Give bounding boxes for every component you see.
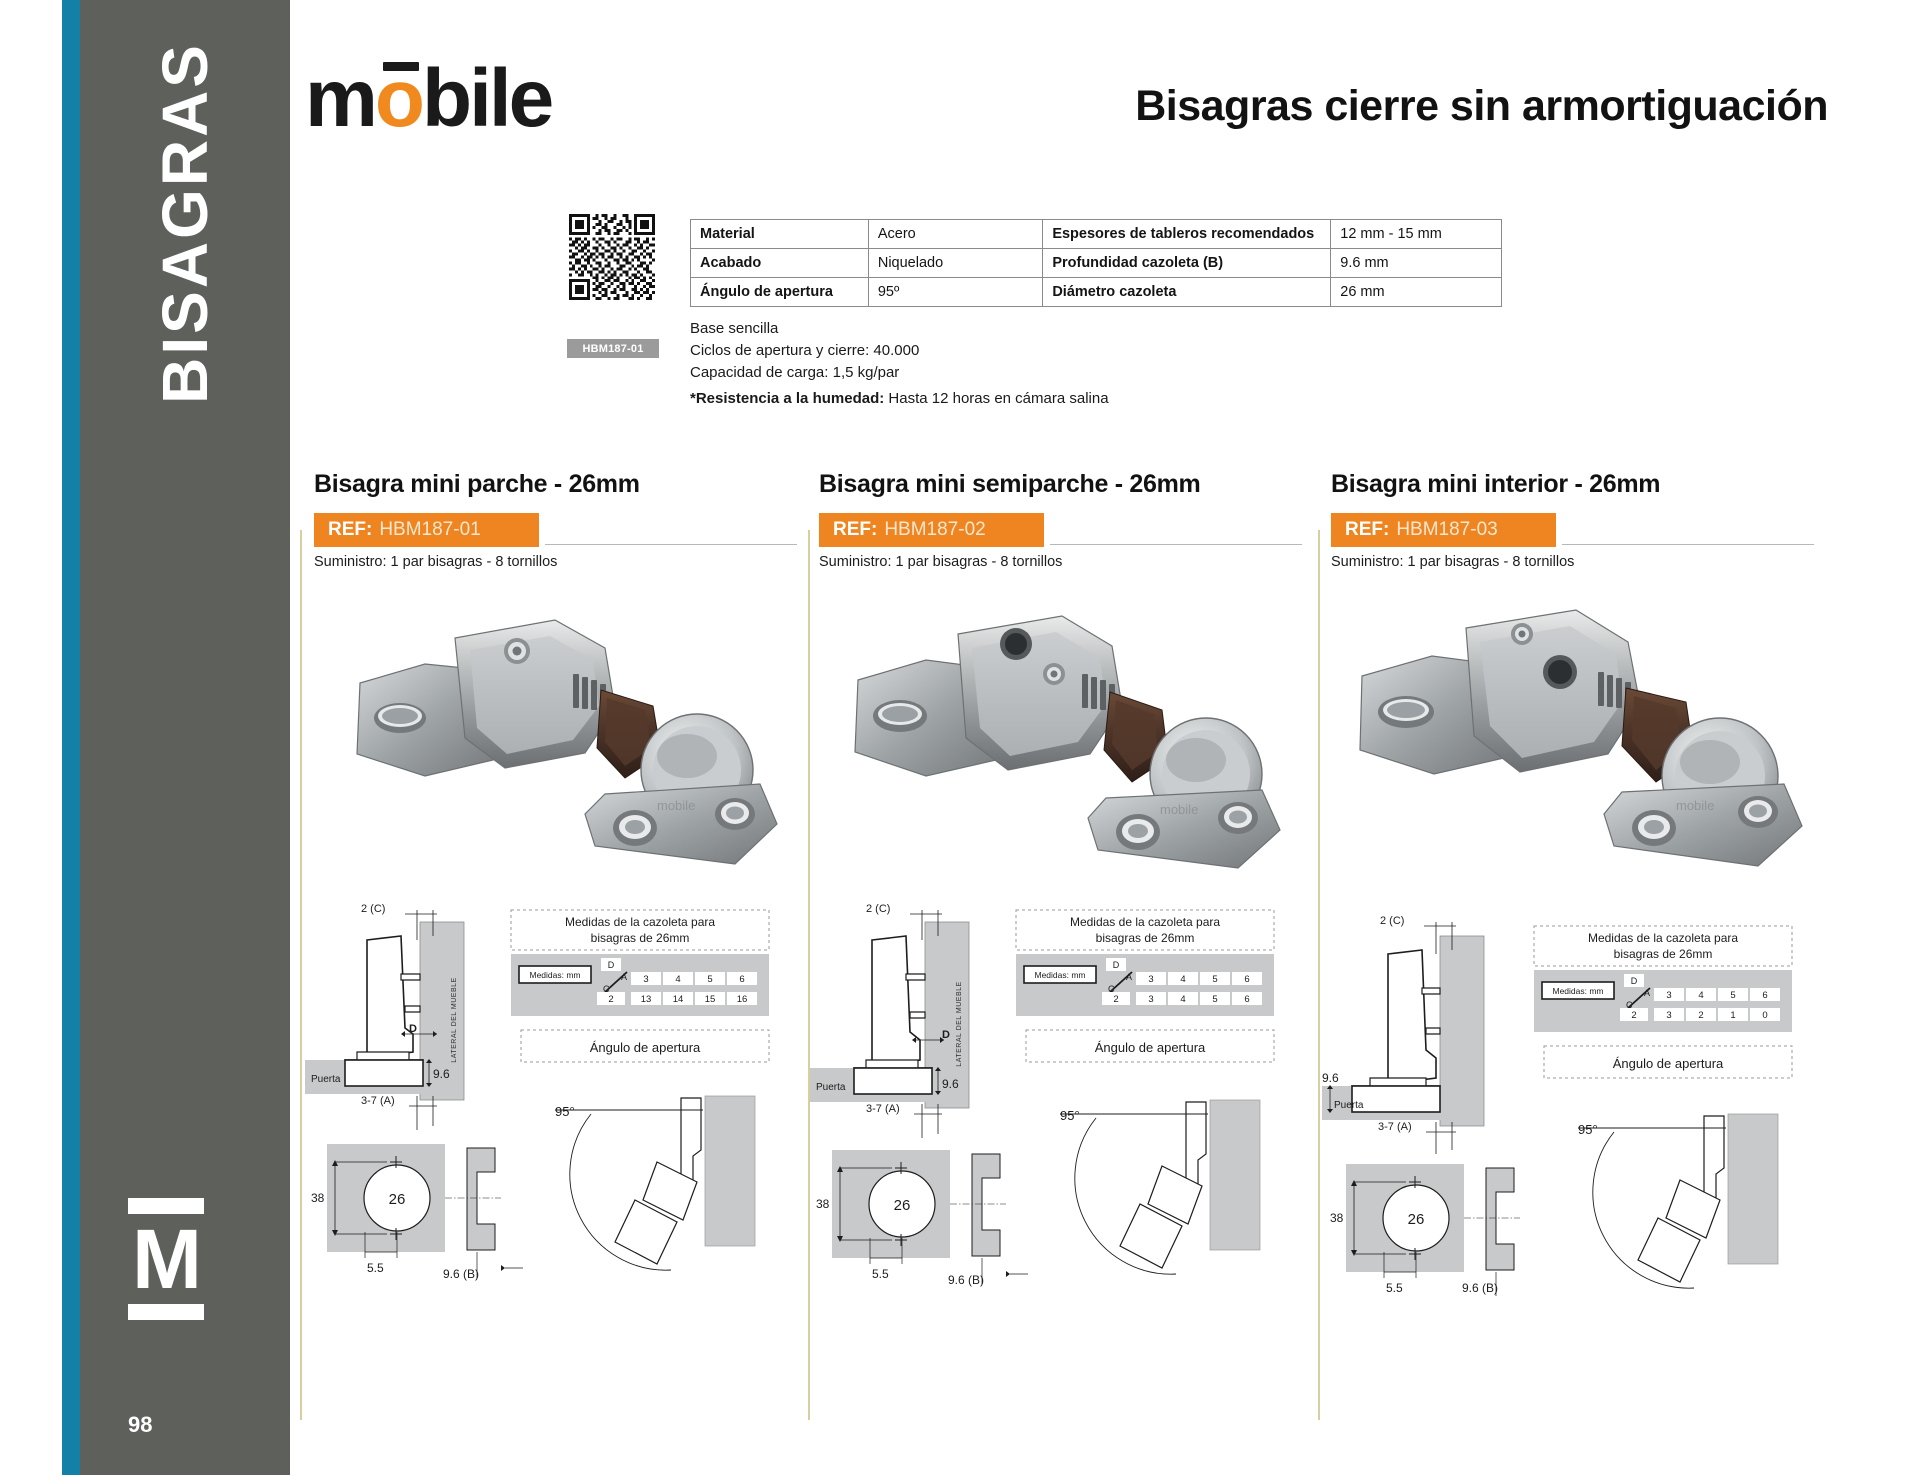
diagram-row-c: 2 [608,994,613,1005]
spec-key-cup-diameter: Diámetro cazoleta [1043,278,1331,307]
svg-text:mobile: mobile [1676,798,1714,813]
diagram-dim-38: 38 [1330,1211,1344,1225]
diagram-axis-d: D [608,960,615,970]
diagram-row-c: 2 [1113,994,1118,1005]
diagram-dim-55: 5.5 [872,1267,889,1281]
product-diagram: Puerta 2 (C) 9.6 3-7 (A) 26 [1322,900,1827,1320]
diagram-cup-note-2: bisagras de 26mm [591,931,690,945]
diagram-units-label: Medidas: mm [1034,970,1085,980]
diagram-label-door: Puerta [311,1074,341,1085]
diagram-dim-38: 38 [311,1191,325,1205]
diagram-row-value-1: 4 [1180,994,1185,1005]
diagram-axis-a: A [1644,988,1650,998]
diagram-dim-26: 26 [389,1191,406,1208]
diagram-row-a-0: 3 [643,974,648,985]
table-row: Ángulo de apertura 95º Diámetro cazoleta… [691,278,1502,307]
technical-drawing-parche-icon: LATERAL DEL MUEBLE Puerta 2 (C) [305,900,810,1320]
spec-note-base: Base sencilla [690,318,919,340]
hinge-photo-interior-icon: mobile [1322,578,1822,893]
brand-logo-part1: m [305,53,375,144]
spec-table: Material Acero Espesores de tableros rec… [690,219,1502,307]
diagram-row-a-1: 4 [675,974,680,985]
page-title: Bisagras cierre sin armortiguación [1135,82,1828,131]
svg-text:mobile: mobile [657,798,695,813]
diagram-row-a-0: 3 [1666,990,1671,1001]
hinge-photo-parche-icon: mobile [305,578,805,893]
diagram-dim-b: 9.6 (B) [948,1273,984,1287]
product-ref-value: HBM187-01 [379,519,480,541]
diagram-row-a-2: 5 [1730,990,1735,1001]
product-ref-value: HBM187-02 [884,519,985,541]
spec-note-cycles: Ciclos de apertura y cierre: 40.000 [690,340,919,362]
product-supply: Suministro: 1 par bisagras - 8 tornillos [1331,554,1822,570]
diagram-angle-value: 95° [1060,1108,1080,1123]
product-ref-row: REF: HBM187-01 [305,513,805,547]
diagram-label-side: LATERAL DEL MUEBLE [956,981,963,1066]
column-divider [1318,530,1320,1420]
spec-notes: Base sencilla Ciclos de apertura y cierr… [690,318,919,384]
column-divider [300,530,302,1420]
product-card-parche: Bisagra mini parche - 26mm REF: HBM187-0… [305,470,805,1425]
page-number: 98 [128,1412,152,1438]
brand-logo: mobile [305,58,551,140]
product-supply: Suministro: 1 par bisagras - 8 tornillos [819,554,1310,570]
humidity-note-value: Hasta 12 horas en cámara salina [888,390,1108,407]
diagram-row-a-3: 6 [1762,990,1767,1001]
diagram-dim-depth: 9.6 [433,1067,450,1081]
diagram-angle-value: 95° [555,1104,575,1119]
svg-text:mobile: mobile [1160,802,1198,817]
diagram-row-value-0: 13 [641,994,652,1005]
diagram-dim-a: 3-7 (A) [866,1103,900,1115]
product-diagram: LATERAL DEL MUEBLE Puerta 2 (C) D [810,900,1315,1320]
diagram-dim-depth: 9.6 [1322,1071,1339,1085]
diagram-row-a-1: 4 [1698,990,1703,1001]
diagram-row-a-3: 6 [739,974,744,985]
spec-note-load: Capacidad de carga: 1,5 kg/par [690,362,919,384]
product-photo: mobile [1322,578,1822,893]
sidebar-category-label: BISAGRAS [148,42,222,404]
diagram-row-a-2: 5 [707,974,712,985]
diagram-angle-value: 95° [1578,1122,1598,1137]
diagram-units-label: Medidas: mm [529,970,580,980]
spec-value-cup-diameter: 26 mm [1331,278,1502,307]
humidity-note-label: *Resistencia a la humedad: [690,390,884,407]
product-supply: Suministro: 1 par bisagras - 8 tornillos [314,554,805,570]
brand-mark-bottom-bar [128,1304,204,1320]
diagram-row-value-2: 15 [705,994,716,1005]
spec-key-material: Material [691,220,869,249]
product-photo: mobile [305,578,805,893]
diagram-label-door: Puerta [816,1082,846,1093]
brand-mark-icon: M [128,1198,204,1320]
spec-key-finish: Acabado [691,249,869,278]
diagram-dim-top: 2 (C) [1380,915,1404,927]
brand-logo-macron-icon [383,62,419,71]
diagram-row-value-3: 0 [1762,1010,1767,1021]
diagram-row-value-2: 1 [1730,1010,1735,1021]
spec-value-finish: Niquelado [868,249,1042,278]
brand-logo-o: o [375,58,422,140]
diagram-row-value-0: 3 [1148,994,1153,1005]
spec-key-thickness: Espesores de tableros recomendados [1043,220,1331,249]
technical-drawing-interior-icon: Puerta 2 (C) 9.6 3-7 (A) 26 [1322,900,1827,1320]
diagram-dim-depth: 9.6 [942,1077,959,1091]
spec-key-cup-depth: Profundidad cazoleta (B) [1043,249,1331,278]
diagram-dim-26: 26 [1408,1211,1425,1228]
product-title: Bisagra mini interior - 26mm [1331,470,1822,499]
diagram-units-label: Medidas: mm [1552,986,1603,996]
diagram-row-value-2: 5 [1212,994,1217,1005]
product-ref-label: REF: [833,519,877,541]
sidebar: BISAGRAS M 98 [0,0,290,1475]
diagram-dim-a: 3-7 (A) [1378,1121,1412,1133]
diagram-dim-b: 9.6 (B) [443,1267,479,1281]
humidity-note: *Resistencia a la humedad: Hasta 12 hora… [690,390,1109,407]
spec-value-thickness: 12 mm - 15 mm [1331,220,1502,249]
diagram-cup-note-1: Medidas de la cazoleta para [565,915,715,929]
product-ref-label: REF: [1345,519,1389,541]
diagram-label-door: Puerta [1334,1100,1364,1111]
product-ref-rule [1050,544,1302,545]
table-row: Acabado Niquelado Profundidad cazoleta (… [691,249,1502,278]
diagram-label-side: LATERAL DEL MUEBLE [451,977,458,1062]
product-ref-badge[interactable]: REF: HBM187-01 [314,513,539,547]
sidebar-accent-stripe [62,0,80,1475]
diagram-dim-26: 26 [894,1197,911,1214]
spec-value-material: Acero [868,220,1042,249]
diagram-row-a-0: 3 [1148,974,1153,985]
brand-mark-letter: M [128,1220,204,1298]
product-card-interior: Bisagra mini interior - 26mm REF: HBM187… [1322,470,1822,1425]
diagram-axis-a: A [621,972,627,982]
diagram-cup-note-1: Medidas de la cazoleta para [1070,915,1220,929]
diagram-row-a-3: 6 [1244,974,1249,985]
diagram-cup-note-1: Medidas de la cazoleta para [1588,931,1738,945]
diagram-dim-b: 9.6 (B) [1462,1281,1498,1295]
diagram-row-a-2: 5 [1212,974,1217,985]
product-ref-rule [545,544,797,545]
product-ref-badge[interactable]: REF: HBM187-03 [1331,513,1556,547]
qr-code-icon [569,214,655,300]
product-title: Bisagra mini parche - 26mm [314,470,805,499]
diagram-axis-d: D [1631,976,1638,986]
product-ref-badge[interactable]: REF: HBM187-02 [819,513,1044,547]
hinge-photo-semiparche-icon: mobile [810,578,1310,893]
product-title: Bisagra mini semiparche - 26mm [819,470,1310,499]
product-ref-row: REF: HBM187-02 [810,513,1310,547]
diagram-dim-top: 2 (C) [361,903,385,915]
spec-value-angle: 95º [868,278,1042,307]
diagram-angle-note: Ángulo de apertura [590,1040,701,1055]
diagram-angle-note: Ángulo de apertura [1613,1056,1724,1071]
diagram-cup-note-2: bisagras de 26mm [1614,947,1713,961]
diagram-dim-d: D [942,1029,950,1041]
diagram-row-value-1: 2 [1698,1010,1703,1021]
diagram-row-value-3: 16 [737,994,748,1005]
diagram-dim-55: 5.5 [367,1261,384,1275]
diagram-row-a-1: 4 [1180,974,1185,985]
brand-logo-part2: bile [422,53,551,144]
diagram-dim-55: 5.5 [1386,1281,1403,1295]
technical-drawing-semiparche-icon: LATERAL DEL MUEBLE Puerta 2 (C) D [810,900,1315,1320]
diagram-dim-d: D [409,1023,417,1035]
table-row: Material Acero Espesores de tableros rec… [691,220,1502,249]
diagram-axis-a: A [1126,972,1132,982]
spec-ref-chip: HBM187-01 [567,339,659,358]
product-ref-value: HBM187-03 [1396,519,1497,541]
spec-value-cup-depth: 9.6 mm [1331,249,1502,278]
diagram-angle-note: Ángulo de apertura [1095,1040,1206,1055]
diagram-axis-d: D [1113,960,1120,970]
product-ref-label: REF: [328,519,372,541]
product-ref-row: REF: HBM187-03 [1322,513,1822,547]
product-card-semiparche: Bisagra mini semiparche - 26mm REF: HBM1… [810,470,1310,1425]
spec-key-angle: Ángulo de apertura [691,278,869,307]
product-photo: mobile [810,578,1310,893]
diagram-dim-top: 2 (C) [866,903,890,915]
diagram-dim-38: 38 [816,1197,830,1211]
diagram-row-value-3: 6 [1244,994,1249,1005]
product-diagram: LATERAL DEL MUEBLE Puerta 2 (C) [305,900,810,1320]
diagram-row-value-1: 14 [673,994,684,1005]
diagram-cup-note-2: bisagras de 26mm [1096,931,1195,945]
product-ref-rule [1562,544,1814,545]
diagram-dim-a: 3-7 (A) [361,1095,395,1107]
diagram-row-value-0: 3 [1666,1010,1671,1021]
diagram-row-c: 2 [1631,1010,1636,1021]
